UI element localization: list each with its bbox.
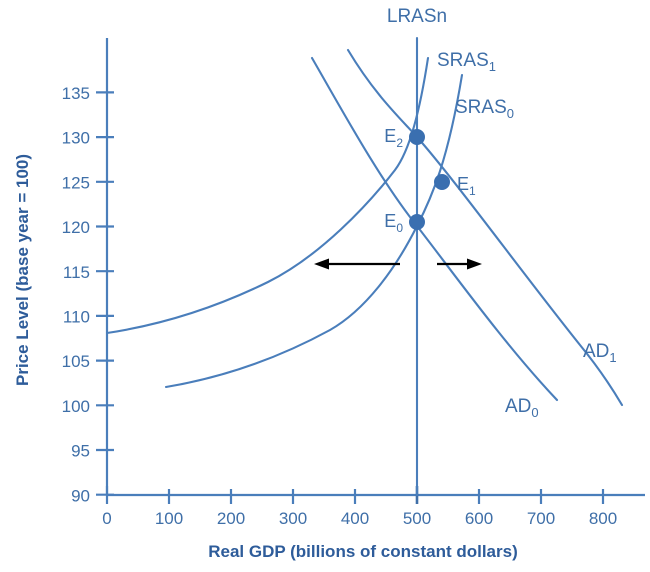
curve-label-ad1-sub: 1: [609, 350, 616, 365]
equilibrium-label-e0-text: E: [384, 211, 396, 231]
x-tick-label-600: 600: [465, 509, 493, 528]
axes: [107, 38, 645, 495]
curve-label-sras0-text: SRAS: [455, 97, 507, 118]
equilibrium-point-e1[interactable]: [435, 175, 450, 190]
y-axis-title: Price Level (base year = 100): [13, 154, 32, 386]
equilibrium-point-e2[interactable]: [410, 130, 425, 145]
equilibrium-label-e2: E2: [384, 126, 403, 150]
y-tick-label-100: 100: [62, 397, 90, 416]
x-tick-label-300: 300: [279, 509, 307, 528]
curve-label-sras1-text: SRAS: [437, 50, 489, 71]
x-tick-label-800: 800: [589, 509, 617, 528]
x-tick-label-100: 100: [155, 509, 183, 528]
y-tick-label-125: 125: [62, 173, 90, 192]
equilibrium-label-e1-sub: 1: [469, 184, 476, 198]
curve-label-sras0-sub: 0: [507, 106, 514, 121]
curve-labels: LRASn SRAS1 SRAS0 AD1 AD0: [387, 6, 617, 420]
curve-label-ad0-text: AD: [505, 396, 531, 417]
curve-sras1: [107, 58, 428, 333]
curve-label-ad1: AD1: [583, 341, 617, 365]
curve-label-ad0: AD0: [505, 396, 539, 420]
y-tick-label-95: 95: [71, 442, 90, 461]
y-tick-label-105: 105: [62, 352, 90, 371]
x-tick-label-0: 0: [102, 509, 111, 528]
equilibrium-label-e2-sub: 2: [396, 136, 403, 150]
equilibrium-label-e0: E0: [384, 211, 403, 235]
equilibrium-point-e0[interactable]: [410, 215, 425, 230]
x-tick-label-700: 700: [527, 509, 555, 528]
equilibrium-label-e1-text: E: [457, 174, 469, 194]
y-axis-ticks: [96, 92, 114, 494]
x-axis-tick-labels: 0 100 200 300 400 500 600 700 800: [102, 509, 617, 528]
equilibrium-label-e2-text: E: [384, 126, 396, 146]
y-tick-label-110: 110: [63, 308, 90, 327]
x-axis-title: Real GDP (billions of constant dollars): [208, 542, 518, 561]
curve-label-lrasn: LRASn: [387, 6, 447, 27]
x-tick-label-400: 400: [341, 509, 369, 528]
left-shift-arrow-head: [314, 259, 329, 270]
x-tick-label-500: 500: [403, 509, 431, 528]
curve-label-sras0: SRAS0: [455, 97, 514, 121]
equilibrium-label-e1: E1: [457, 174, 476, 198]
y-tick-label-135: 135: [62, 84, 90, 103]
equilibrium-label-e0-sub: 0: [396, 221, 403, 235]
curve-label-ad0-sub: 0: [531, 405, 538, 420]
curve-label-sras1: SRAS1: [437, 50, 496, 74]
aggregate-supply-demand-chart: 135 130 125 120 115 110 105 100 95 90 0 …: [0, 0, 650, 572]
y-tick-label-130: 130: [62, 129, 90, 148]
right-shift-arrow-head: [467, 259, 482, 270]
curve-label-ad1-text: AD: [583, 341, 609, 362]
y-tick-label-90: 90: [71, 486, 90, 505]
curve-ad0: [312, 58, 557, 400]
equilibrium-points: [410, 130, 450, 230]
equilibrium-labels: E0 E1 E2: [384, 126, 476, 235]
x-tick-label-200: 200: [217, 509, 245, 528]
y-tick-label-115: 115: [63, 263, 90, 282]
y-tick-label-120: 120: [62, 218, 90, 237]
curve-label-sras1-sub: 1: [489, 59, 496, 74]
y-axis-tick-labels: 135 130 125 120 115 110 105 100 95 90: [62, 84, 90, 505]
curves: [107, 38, 622, 495]
